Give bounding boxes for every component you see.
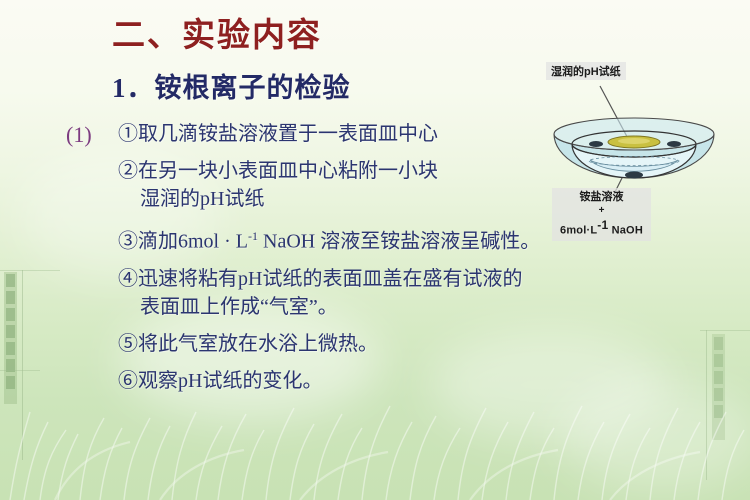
film-strip-frame	[714, 354, 723, 367]
vertical-divider-right	[706, 330, 707, 480]
diagram-label-plus: +	[560, 204, 643, 218]
film-strip-frame	[6, 274, 15, 287]
diagram-label-solution: 铵盐溶液 + 6mol·L-1 NaOH	[552, 188, 651, 241]
diagram-label-solution-line1: 铵盐溶液	[560, 190, 643, 204]
contact-mark	[667, 141, 681, 147]
film-strip-frame	[714, 337, 723, 350]
page-title: 二、实验内容	[112, 8, 322, 56]
step-line: ⑤将此气室放在水浴上微热。	[118, 333, 378, 355]
horizontal-rule-right	[700, 330, 750, 331]
film-strip-frame	[6, 291, 15, 304]
film-strip-frame	[714, 388, 723, 401]
formula-post: NaOH	[608, 225, 643, 237]
contact-mark	[589, 141, 603, 147]
diagram-label-ph-paper: 湿润的pH试纸	[546, 62, 626, 80]
horizontal-rule-left	[0, 270, 60, 271]
step-line: ③滴加6mol · L	[118, 231, 248, 253]
film-strip-frame	[6, 342, 15, 355]
film-strip-frame	[6, 308, 15, 321]
film-strip-right-decoration	[712, 334, 726, 440]
film-strip-frame	[6, 359, 15, 372]
step-line-tail: NaOH 溶液至铵盐溶液呈碱性。	[258, 231, 540, 253]
horizontal-rule-left	[0, 370, 40, 371]
slide-canvas: 二、实验内容 1．铵根离子的检验 (1) ①取几滴铵盐溶液置于一表面皿中心 ②在…	[0, 0, 750, 500]
superscript: -1	[248, 229, 258, 243]
section-subtitle: 1．铵根离子的检验	[112, 66, 351, 105]
step-line: ①取几滴铵盐溶液置于一表面皿中心	[118, 123, 438, 145]
list-item: ⑥观察pH试纸的变化。	[118, 367, 638, 395]
step-line: ②在另一块小表面皿中心粘附一小块	[118, 160, 438, 182]
formula-superscript: -1	[597, 218, 608, 232]
list-item: ④迅速将粘有pH试纸的表面皿盖在盛有试液的 表面皿上作成“气室”。	[118, 265, 638, 321]
list-marker: (1)	[66, 122, 92, 148]
step-line-continued: 表面皿上作成“气室”。	[118, 293, 638, 321]
list-item: ⑤将此气室放在水浴上微热。	[118, 330, 638, 358]
step-line: ⑥观察pH试纸的变化。	[118, 370, 322, 392]
film-strip-rail	[4, 272, 17, 404]
film-strip-frame	[714, 405, 723, 418]
formula-pre: 6mol·L	[560, 225, 597, 237]
vertical-divider-left	[22, 270, 23, 460]
film-strip-rail	[712, 334, 725, 440]
watch-glass-diagram: 湿润的pH试纸 铵盐溶液 + 6mol·L-1 NaOH	[528, 62, 740, 240]
ph-test-paper-highlight	[618, 138, 650, 144]
contact-mark	[625, 172, 643, 179]
film-strip-frame	[714, 371, 723, 384]
diagram-label-formula: 6mol·L-1 NaOH	[560, 218, 643, 238]
film-strip-frame	[6, 325, 15, 338]
step-line: ④迅速将粘有pH试纸的表面皿盖在盛有试液的	[118, 268, 522, 290]
film-strip-left-decoration	[4, 272, 18, 404]
film-strip-frame	[6, 376, 15, 389]
